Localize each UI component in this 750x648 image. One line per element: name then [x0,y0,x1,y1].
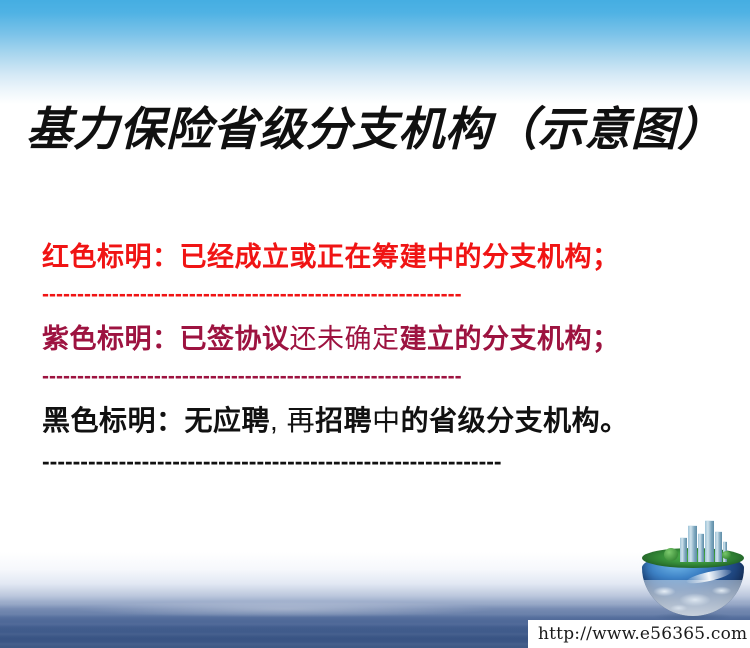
legend-black-tail: 的省级分支机构。 [401,405,629,436]
divider-black: ----------------------------------------… [42,450,648,472]
legend-row-black: 黑色标明：无应聘, 再招聘中的省级分支机构。 [42,400,682,442]
legend-gap-one [42,306,682,318]
skyline-icon [680,520,726,562]
legend-row-red: 红色标明：已经成立或正在筹建中的分支机构； [42,236,682,278]
divider-purple: ----------------------------------------… [42,366,638,388]
building-5 [715,531,722,562]
legend-purple-tail: 建立的分支机构； [400,324,620,354]
building-3 [698,533,704,562]
legend-block: 红色标明：已经成立或正在筹建中的分支机构； ------------------… [42,236,682,472]
watermark-url: http://www.e56365.com [528,624,747,644]
presentation-slide: 基力保险省级分支机构（示意图） 红色标明：已经成立或正在筹建中的分支机构； --… [0,0,750,648]
building-1 [680,537,687,562]
legend-purple-bold: 已签协议 [180,324,290,354]
legend-black-light: , 再 [270,405,315,436]
building-2 [688,525,697,562]
legend-gap-two [42,388,682,400]
globe-city-logo [634,518,750,622]
legend-purple-prefix: 紫色标明： [42,324,180,354]
legend-purple-light: 还未确定 [290,324,400,354]
sky-gradient-background [0,0,750,104]
watermark-url-plate: http://www.e56365.com [528,620,750,648]
slide-title: 基力保险省级分支机构（示意图） [0,98,750,160]
legend-black-bold-two: 招聘 [315,405,372,436]
legend-black-light-two: 中 [372,405,401,436]
building-4 [705,520,714,562]
legend-row-purple: 紫色标明：已签协议还未确定建立的分支机构； [42,318,682,360]
tree-icon [664,548,678,561]
legend-black-prefix: 黑色标明： [42,405,185,436]
tree-icon-small [722,551,731,559]
divider-red: ----------------------------------------… [42,284,638,306]
legend-black-bold: 无应聘 [185,405,271,436]
